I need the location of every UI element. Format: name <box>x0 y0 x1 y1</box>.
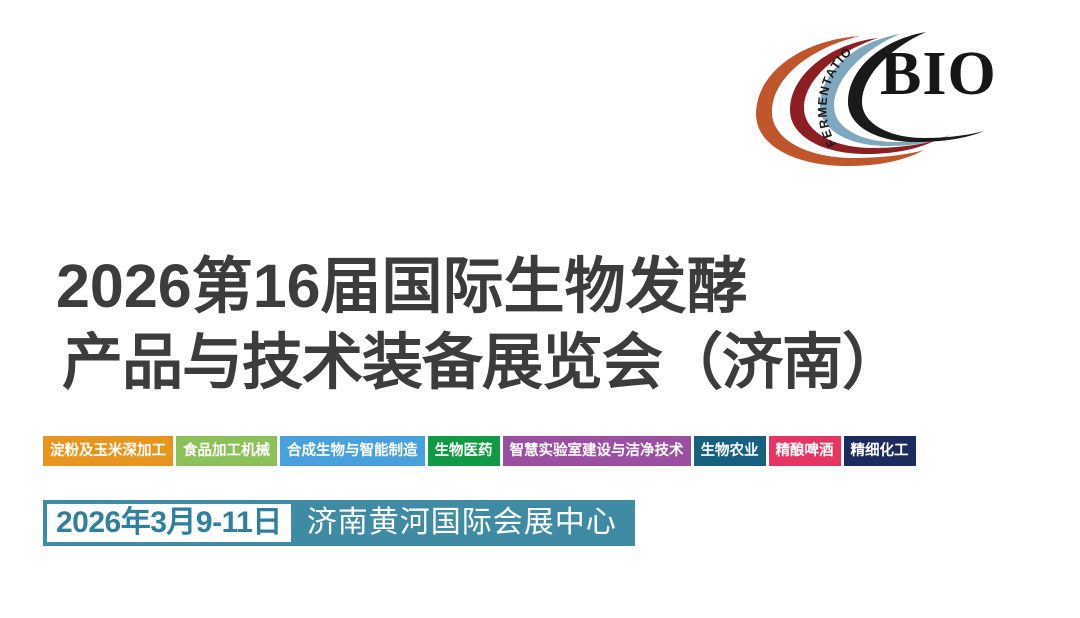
category-tag[interactable]: 生物医药 <box>428 436 500 466</box>
category-tag[interactable]: 精酿啤酒 <box>769 436 841 466</box>
category-tag[interactable]: 生物农业 <box>694 436 766 466</box>
category-tag-strip: 淀粉及玉米深加工食品加工机械合成生物与智能制造生物医药智慧实验室建设与洁净技术生… <box>43 436 916 466</box>
category-tag[interactable]: 精细化工 <box>844 436 916 466</box>
event-date: 2026年3月9-11日 <box>47 504 291 542</box>
category-tag[interactable]: 食品加工机械 <box>176 436 277 466</box>
event-venue: 济南黄河国际会展中心 <box>307 504 617 542</box>
category-tag[interactable]: 淀粉及玉米深加工 <box>43 436 173 466</box>
logo-wordmark: BIO <box>880 40 997 108</box>
category-tag[interactable]: 合成生物与智能制造 <box>280 436 425 466</box>
poster-title: 2026第16届国际生物发酵 产品与技术装备展览会（济南） <box>0 248 1080 400</box>
category-tag[interactable]: 智慧实验室建设与洁净技术 <box>503 436 691 466</box>
bio-fermentation-logo: BIO FERMENTATION <box>748 22 1000 172</box>
date-venue-bar: 2026年3月9-11日 济南黄河国际会展中心 <box>43 500 635 546</box>
title-line-1: 2026第16届国际生物发酵 <box>0 248 1080 324</box>
title-line-2: 产品与技术装备展览会（济南） <box>0 324 1080 400</box>
exhibition-poster: BIO FERMENTATION 2026第16届国际生物发酵 产品与技术装备展… <box>0 0 1080 618</box>
